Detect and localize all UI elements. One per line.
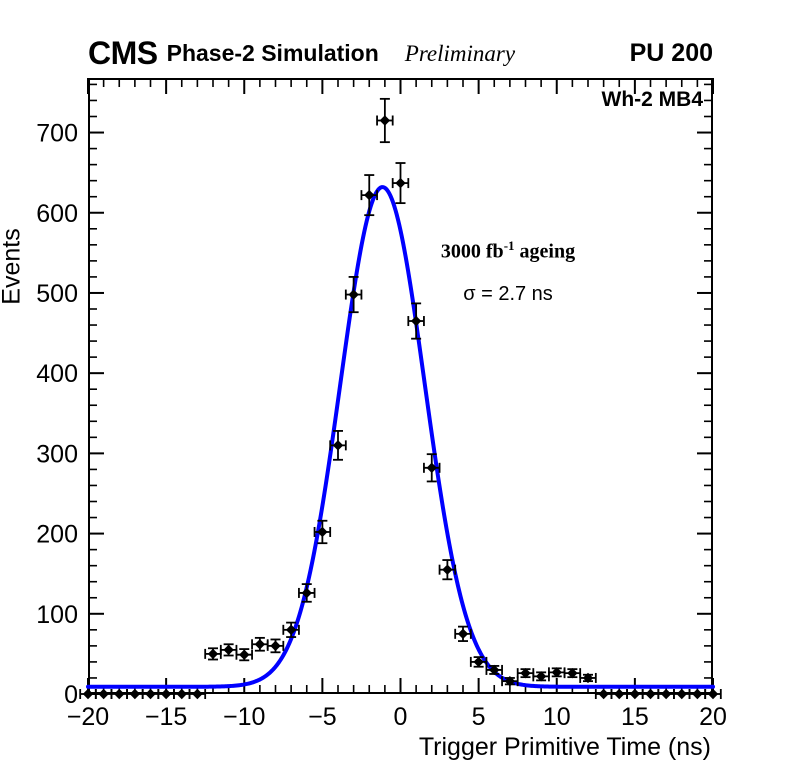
x-tick-label: 5 xyxy=(472,703,486,731)
x-tick-label: −5 xyxy=(308,703,337,731)
chart-root: CMS Phase-2 Simulation Preliminary PU 20… xyxy=(0,0,796,772)
data-point xyxy=(627,689,643,699)
data-point xyxy=(96,689,112,699)
data-point xyxy=(252,638,268,651)
data-point xyxy=(80,689,96,699)
x-axis-ticks: −20−15−10−505101520 xyxy=(67,78,727,731)
data-point xyxy=(408,303,424,338)
data-point xyxy=(674,689,690,699)
data-point xyxy=(393,163,409,203)
plot-canvas: 0100200300400500600700 −20−15−10−5051015… xyxy=(0,0,796,772)
data-point xyxy=(705,689,721,699)
gaussian-fit-curve xyxy=(88,187,713,687)
data-point xyxy=(158,689,174,699)
data-point xyxy=(518,668,534,678)
data-point xyxy=(299,584,315,602)
data-point xyxy=(643,689,659,699)
data-point xyxy=(565,668,581,678)
x-tick-label: 10 xyxy=(543,703,571,731)
data-point xyxy=(611,689,627,699)
data-point xyxy=(143,689,159,699)
data-point xyxy=(658,689,674,699)
y-tick-label: 600 xyxy=(36,200,78,228)
data-point xyxy=(549,667,565,677)
data-point xyxy=(111,689,127,699)
data-point xyxy=(690,689,706,699)
data-point xyxy=(174,689,190,699)
x-tick-label: −20 xyxy=(67,703,109,731)
data-point xyxy=(268,639,284,652)
x-tick-label: 15 xyxy=(621,703,649,731)
data-point xyxy=(377,99,393,142)
data-point xyxy=(190,689,206,699)
data-point xyxy=(533,671,549,681)
y-tick-label: 300 xyxy=(36,440,78,468)
y-tick-label: 500 xyxy=(36,280,78,308)
fit-curve-group xyxy=(88,187,713,687)
data-point xyxy=(221,644,237,655)
x-tick-label: −15 xyxy=(145,703,187,731)
data-point xyxy=(580,673,596,683)
data-point xyxy=(596,689,612,699)
x-tick-label: −10 xyxy=(223,703,265,731)
data-point xyxy=(127,689,143,699)
x-tick-label: 0 xyxy=(394,703,408,731)
y-tick-label: 700 xyxy=(36,120,78,148)
data-point xyxy=(346,277,362,312)
y-tick-label: 100 xyxy=(36,601,78,629)
data-point xyxy=(361,175,377,215)
y-tick-label: 400 xyxy=(36,360,78,388)
data-point xyxy=(236,649,252,660)
y-tick-label: 200 xyxy=(36,521,78,549)
data-point xyxy=(205,648,221,659)
data-points-group xyxy=(80,99,721,699)
x-tick-label: 20 xyxy=(699,703,727,731)
y-axis-ticks: 0100200300400500600700 xyxy=(36,84,713,709)
